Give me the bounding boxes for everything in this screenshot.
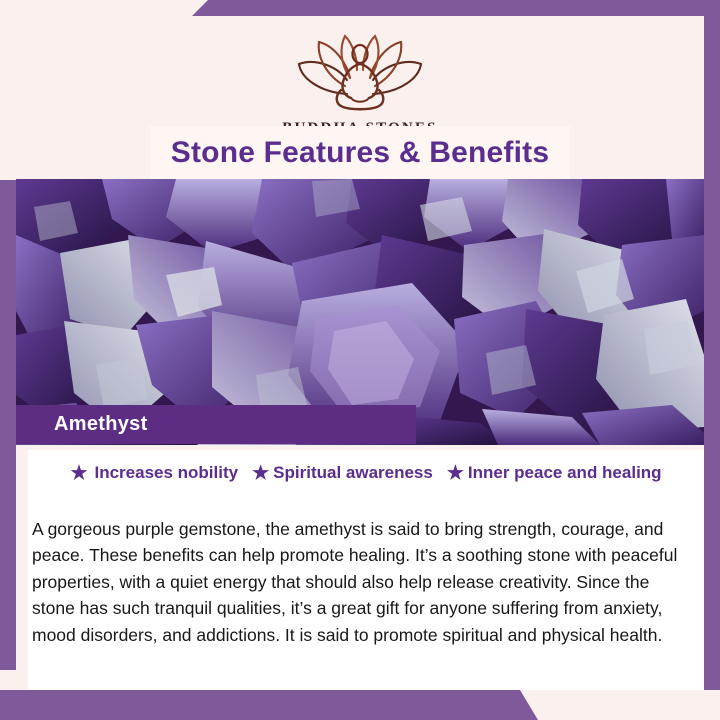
left-accent-bar	[0, 180, 16, 670]
star-icon: ★	[447, 464, 464, 483]
stone-label: Amethyst	[54, 413, 148, 436]
benefit-label: Increases nobility	[94, 463, 238, 483]
bottom-accent-bar	[0, 690, 720, 720]
lotus-meditation-icon	[285, 24, 435, 116]
content-card: ★ Increases nobility ★ Spiritual awarene…	[28, 450, 704, 690]
top-accent-bar	[0, 0, 720, 16]
stone-description: A gorgeous purple gemstone, the amethyst…	[32, 516, 694, 649]
benefit-item: ★ Increases nobility	[70, 463, 238, 483]
brand-logo: BUDDHA STONES	[16, 24, 704, 137]
right-accent-bar	[704, 0, 720, 690]
page-title: Stone Features & Benefits	[171, 136, 549, 170]
title-banner: Stone Features & Benefits	[150, 126, 570, 179]
benefit-label: Inner peace and healing	[468, 463, 662, 483]
benefit-item: ★ Inner peace and healing	[447, 463, 662, 483]
star-icon: ★	[70, 464, 87, 483]
stone-label-band: Amethyst	[16, 405, 416, 444]
benefits-list: ★ Increases nobility ★ Spiritual awarene…	[28, 463, 704, 483]
benefit-label: Spiritual awareness	[273, 463, 433, 483]
star-icon: ★	[252, 464, 269, 483]
product-infographic: BUDDHA STONES Stone Features & Benefits	[0, 0, 720, 720]
benefit-item: ★ Spiritual awareness	[252, 463, 433, 483]
